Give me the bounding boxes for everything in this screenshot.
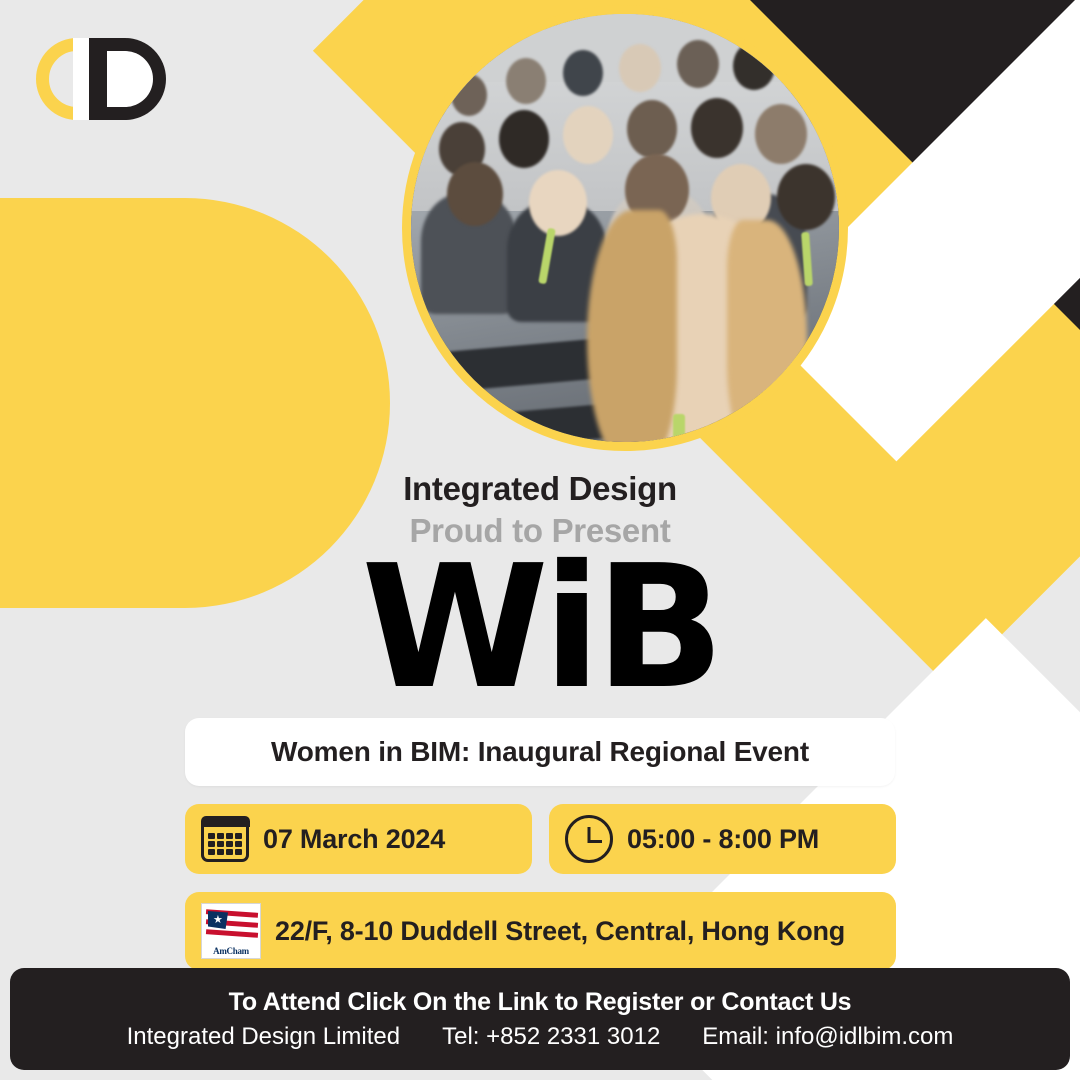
footer-contact-row: Integrated Design Limited Tel: +852 2331… (127, 1023, 954, 1051)
amcham-flag: ★ (206, 907, 258, 942)
calendar-icon-grid (208, 833, 242, 855)
logo-d-bowl (97, 38, 166, 120)
event-title: Women in BIM: Inaugural Regional Event (271, 736, 809, 768)
photo-person (777, 164, 835, 230)
footer-company: Integrated Design Limited (127, 1023, 401, 1051)
event-venue-text: 22/F, 8-10 Duddell Street, Central, Hong… (275, 916, 845, 947)
contact-footer: To Attend Click On the Link to Register … (10, 968, 1070, 1070)
event-date-chip: 07 March 2024 (185, 804, 532, 874)
idl-monogram-logo (36, 38, 166, 120)
event-poster: Integrated Design Proud to Present WiB W… (0, 0, 1080, 1080)
photo-person (677, 40, 719, 88)
event-time-chip: 05:00 - 8:00 PM (549, 804, 896, 874)
photo-person (529, 170, 587, 236)
photo-person (733, 42, 775, 90)
photo-person (447, 162, 503, 226)
event-venue-chip: ★ AmCham 22/F, 8-10 Duddell Street, Cent… (185, 892, 896, 970)
photo-lanyard (673, 414, 685, 442)
photo-person (619, 44, 661, 92)
amcham-label: AmCham (213, 946, 249, 956)
amcham-logo-icon: ★ AmCham (201, 903, 261, 959)
page-title: Integrated Design (0, 470, 1080, 508)
photo-person (499, 110, 549, 168)
logo-d-shape (89, 38, 166, 120)
photo-person (451, 74, 487, 116)
footer-tel[interactable]: Tel: +852 2331 3012 (442, 1023, 660, 1051)
clock-icon (565, 815, 613, 863)
event-time-text: 05:00 - 8:00 PM (627, 824, 819, 855)
audience-photo-image (411, 14, 839, 442)
event-title-bar: Women in BIM: Inaugural Regional Event (185, 718, 895, 786)
event-date-text: 07 March 2024 (263, 824, 445, 855)
footer-email[interactable]: Email: info@idlbim.com (702, 1023, 953, 1051)
photo-person (691, 98, 743, 158)
wib-wordmark: WiB (0, 548, 1080, 708)
photo-person (563, 50, 603, 96)
footer-cta: To Attend Click On the Link to Register … (229, 988, 852, 1017)
audience-photo (402, 5, 848, 451)
photo-person (627, 100, 677, 158)
photo-foreground-hair (587, 210, 677, 442)
calendar-icon (201, 816, 249, 862)
photo-person (789, 48, 831, 96)
photo-person (506, 58, 546, 104)
photo-person (563, 106, 613, 164)
photo-person (755, 104, 807, 164)
